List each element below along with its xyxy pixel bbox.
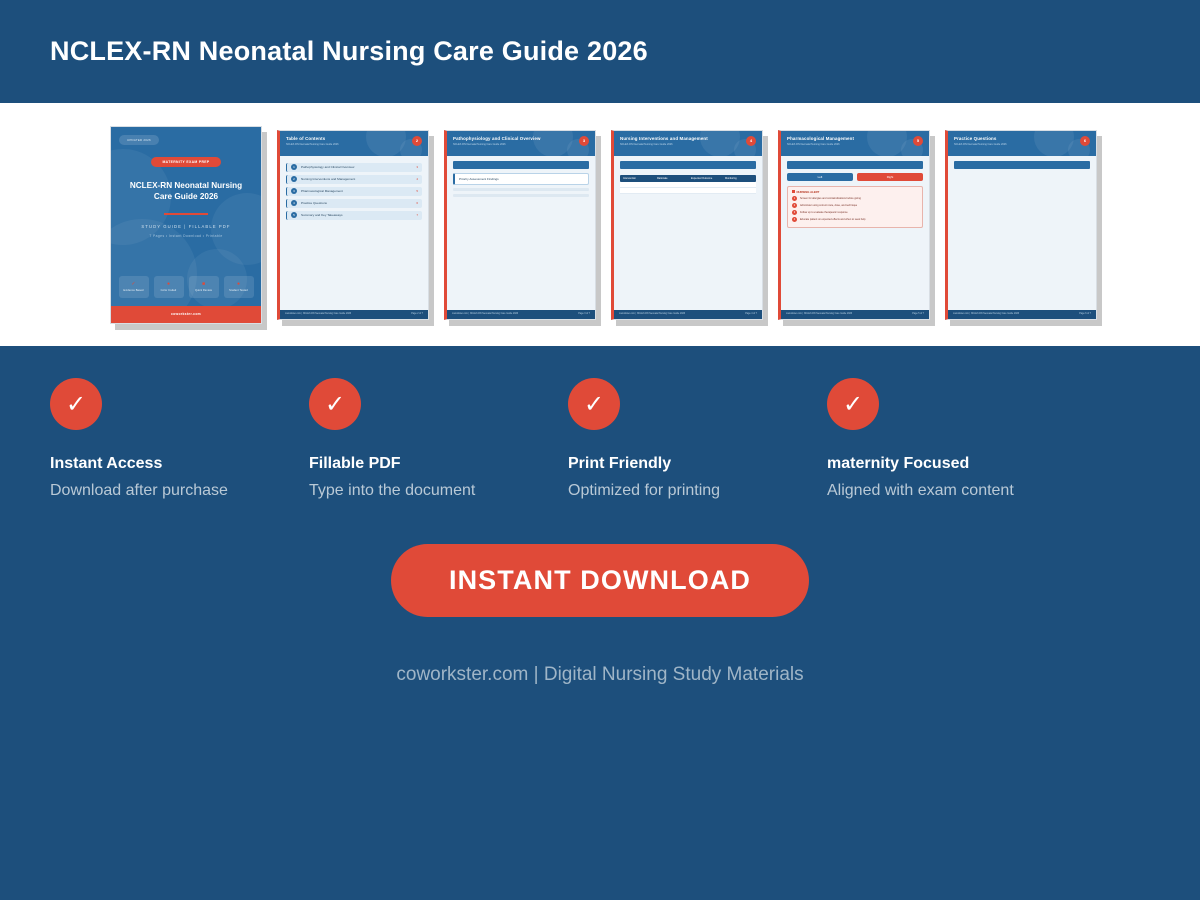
- page-number-badge: 2: [412, 136, 422, 146]
- site-footer: coworkster.com | Digital Nursing Study M…: [0, 664, 1200, 686]
- thumbnail-page-2[interactable]: Table of Contents NCLEX-RN Neonatal Nurs…: [277, 130, 429, 320]
- page-footer-right: Page 3 of 7: [578, 313, 590, 315]
- alert-icon: [792, 190, 795, 193]
- nursing-alert-box: NURSING ALERT 1 Screen for allergies and…: [787, 186, 923, 228]
- page-number-badge: 5: [913, 136, 923, 146]
- toc-number: 2: [291, 176, 297, 182]
- toc-title: Practice Questions: [301, 201, 412, 205]
- cover-body: UPDATED 2026 MATERNITY EXAM PREP NCLEX-R…: [111, 127, 261, 323]
- column-header: Monitoring: [722, 177, 756, 180]
- toc-title: Pathophysiology and Clinical Overview: [301, 165, 412, 169]
- feature-instant-access: ✓ Instant Access Download after purchase: [50, 378, 309, 500]
- page-subheading: NCLEX-RN Neonatal Nursing Care Guide 202…: [787, 143, 929, 146]
- text-line: [453, 194, 589, 197]
- page-header-band: Pharmacological Management NCLEX-RN Neon…: [781, 131, 929, 156]
- cover-feature-label: Student Tested: [229, 289, 248, 292]
- thumbnail-page-3-wrapper[interactable]: Pathophysiology and Clinical Overview NC…: [444, 130, 596, 320]
- feature-title: Print Friendly: [568, 455, 827, 473]
- cta-container: INSTANT DOWNLOAD: [0, 544, 1200, 617]
- alert-item-text: Follow up to evaluate therapeutic respon…: [800, 211, 848, 214]
- toc-page: 5: [416, 189, 418, 193]
- thumbnail-page-5[interactable]: Pharmacological Management NCLEX-RN Neon…: [778, 130, 930, 320]
- page-header: NCLEX-RN Neonatal Nursing Care Guide 202…: [0, 0, 1200, 103]
- text-line: [453, 188, 589, 191]
- page-subheading: NCLEX-RN Neonatal Nursing Care Guide 202…: [286, 143, 428, 146]
- alert-item-text: Educate patient on expected effects and …: [800, 218, 865, 221]
- page-header-band: Table of Contents NCLEX-RN Neonatal Nurs…: [280, 131, 428, 156]
- dot-icon: ●: [167, 282, 170, 287]
- page-footer: coworkster.com | NCLEX-RN Neonatal Nursi…: [614, 310, 762, 319]
- check-icon: ✓: [131, 282, 135, 287]
- page-body: Left Right NURSING ALERT 1 Screen for al…: [781, 156, 929, 310]
- right-button[interactable]: Right: [857, 173, 923, 181]
- feature-title: Fillable PDF: [309, 455, 568, 473]
- feature-title: maternity Focused: [827, 455, 1086, 473]
- page-footer: coworkster.com | NCLEX-RN Neonatal Nursi…: [781, 310, 929, 319]
- alert-title-text: NURSING ALERT: [797, 190, 820, 194]
- alert-list-item: 4 Educate patient on expected effects an…: [792, 217, 918, 222]
- page-footer-right: Page 2 of 7: [411, 313, 423, 315]
- column-header: Rationale: [654, 177, 688, 180]
- thumbnail-page-6-wrapper[interactable]: Practice Questions NCLEX-RN Neonatal Nur…: [945, 130, 1097, 320]
- page-header-band: Nursing Interventions and Management NCL…: [614, 131, 762, 156]
- section-bar: [787, 161, 923, 169]
- thumbnail-cover[interactable]: UPDATED 2026 MATERNITY EXAM PREP NCLEX-R…: [110, 126, 262, 324]
- column-header: Intervention: [620, 177, 654, 180]
- page-number-badge: 6: [1080, 136, 1090, 146]
- table-header-row: Intervention Rationale Expected Outcome …: [620, 175, 756, 182]
- toc-number: 5: [291, 212, 297, 218]
- cover-divider: [164, 213, 208, 215]
- page-footer-left: coworkster.com | NCLEX-RN Neonatal Nursi…: [619, 313, 685, 315]
- check-icon: ✓: [50, 378, 102, 430]
- alert-item-number: 2: [792, 203, 797, 208]
- page-heading: Nursing Interventions and Management: [620, 136, 762, 141]
- page-subheading: NCLEX-RN Neonatal Nursing Care Guide 202…: [620, 143, 762, 146]
- page-heading: Practice Questions: [954, 136, 1096, 141]
- feature-description: Download after purchase: [50, 482, 309, 500]
- cover-feature-label: Color Coded: [161, 289, 177, 292]
- page-body: 1 Pathophysiology and Clinical Overview …: [280, 156, 428, 310]
- alert-item-text: Administer using correct route, dose, an…: [800, 204, 857, 207]
- thumbnail-strip: UPDATED 2026 MATERNITY EXAM PREP NCLEX-R…: [0, 103, 1200, 346]
- section-bar: [453, 161, 589, 169]
- page-footer: coworkster.com | NCLEX-RN Neonatal Nursi…: [948, 310, 1096, 319]
- alert-list-item: 3 Follow up to evaluate therapeutic resp…: [792, 210, 918, 215]
- left-button[interactable]: Left: [787, 173, 853, 181]
- feature-description: Optimized for printing: [568, 482, 827, 500]
- check-icon: ✓: [827, 378, 879, 430]
- cover-feature-row: ✓ Evidence Based ● Color Coded ■ Quick R…: [119, 276, 254, 298]
- cover-feature-item: ● Color Coded: [154, 276, 184, 298]
- section-bar: [954, 161, 1090, 169]
- page-number-badge: 3: [579, 136, 589, 146]
- page-4: Nursing Interventions and Management NCL…: [614, 131, 762, 319]
- list-item[interactable]: 5 Summary and Key Takeaways 7: [286, 211, 422, 220]
- page-footer-right: Page 5 of 7: [912, 313, 924, 315]
- page-subheading: NCLEX-RN Neonatal Nursing Care Guide 202…: [954, 143, 1096, 146]
- section-bar: [620, 161, 756, 169]
- instant-download-button[interactable]: INSTANT DOWNLOAD: [391, 544, 809, 617]
- thumbnail-page-2-wrapper[interactable]: Table of Contents NCLEX-RN Neonatal Nurs…: [277, 130, 429, 320]
- thumbnail-page-6[interactable]: Practice Questions NCLEX-RN Neonatal Nur…: [945, 130, 1097, 320]
- toc-number: 1: [291, 164, 297, 170]
- page-body: Priority Assessment Findings: [447, 156, 595, 310]
- callout-title: Priority Assessment Findings: [459, 177, 584, 181]
- cover-feature-label: Evidence Based: [123, 289, 143, 292]
- list-item[interactable]: 1 Pathophysiology and Clinical Overview …: [286, 163, 422, 172]
- list-item[interactable]: 4 Practice Questions 6: [286, 199, 422, 208]
- page-footer-left: coworkster.com | NCLEX-RN Neonatal Nursi…: [285, 313, 351, 315]
- alert-item-number: 3: [792, 210, 797, 215]
- priority-callout: Priority Assessment Findings: [453, 173, 589, 185]
- toc-page: 6: [416, 201, 418, 205]
- alert-item-number: 4: [792, 217, 797, 222]
- button-row: Left Right: [787, 173, 923, 181]
- page-2: Table of Contents NCLEX-RN Neonatal Nurs…: [280, 131, 428, 319]
- page-heading: Table of Contents: [286, 136, 428, 141]
- thumbnail-page-3[interactable]: Pathophysiology and Clinical Overview NC…: [444, 130, 596, 320]
- page-body: [948, 156, 1096, 310]
- feature-row: ✓ Instant Access Download after purchase…: [0, 346, 1200, 500]
- thumbnail-page-5-wrapper[interactable]: Pharmacological Management NCLEX-RN Neon…: [778, 130, 930, 320]
- toc-number: 4: [291, 200, 297, 206]
- check-icon: ✓: [309, 378, 361, 430]
- page-footer: coworkster.com | NCLEX-RN Neonatal Nursi…: [447, 310, 595, 319]
- feature-description: Type into the document: [309, 482, 568, 500]
- feature-maternity-focused: ✓ maternity Focused Aligned with exam co…: [827, 378, 1086, 500]
- feature-title: Instant Access: [50, 455, 309, 473]
- table-of-contents: 1 Pathophysiology and Clinical Overview …: [286, 163, 422, 220]
- toc-page: 7: [416, 213, 418, 217]
- thumbnail-page-4[interactable]: Nursing Interventions and Management NCL…: [611, 130, 763, 320]
- alert-item-text: Screen for allergies and contraindicatio…: [800, 197, 861, 200]
- list-item[interactable]: 3 Pharmacological Management 5: [286, 187, 422, 196]
- toc-title: Summary and Key Takeaways: [301, 213, 412, 217]
- page-body: Intervention Rationale Expected Outcome …: [614, 156, 762, 310]
- toc-page: 3: [416, 165, 418, 169]
- page-footer-right: Page 4 of 7: [745, 313, 757, 315]
- cover-title: NCLEX-RN Neonatal Nursing Care Guide 202…: [126, 180, 246, 204]
- cover-feature-item: ● Student Tested: [224, 276, 254, 298]
- column-header: Expected Outcome: [688, 177, 722, 180]
- page-footer-right: Page 6 of 7: [1079, 313, 1091, 315]
- page-3: Pathophysiology and Clinical Overview NC…: [447, 131, 595, 319]
- page-6: Practice Questions NCLEX-RN Neonatal Nur…: [948, 131, 1096, 319]
- feature-print-friendly: ✓ Print Friendly Optimized for printing: [568, 378, 827, 500]
- alert-list-item: 1 Screen for allergies and contraindicat…: [792, 196, 918, 201]
- dot-icon: ●: [237, 282, 240, 287]
- toc-page: 4: [416, 177, 418, 181]
- toc-title: Nursing Interventions and Management: [301, 177, 412, 181]
- toc-number: 3: [291, 188, 297, 194]
- cover-meta: 7 Pages • Instant Download • Printable: [149, 234, 222, 238]
- page-5: Pharmacological Management NCLEX-RN Neon…: [781, 131, 929, 319]
- cover-feature-item: ■ Quick Review: [189, 276, 219, 298]
- alert-list-item: 2 Administer using correct route, dose, …: [792, 203, 918, 208]
- cover-feature-label: Quick Review: [195, 289, 212, 292]
- page-footer: coworkster.com | NCLEX-RN Neonatal Nursi…: [280, 310, 428, 319]
- page-subheading: NCLEX-RN Neonatal Nursing Care Guide 202…: [453, 143, 595, 146]
- page-heading: Pharmacological Management: [787, 136, 929, 141]
- page-heading: Pathophysiology and Clinical Overview: [453, 136, 595, 141]
- cover-feature-item: ✓ Evidence Based: [119, 276, 149, 298]
- table-row: [620, 188, 756, 194]
- cover-updated-badge: UPDATED 2026: [119, 135, 159, 145]
- feature-description: Aligned with exam content: [827, 482, 1086, 500]
- page-header-band: Pathophysiology and Clinical Overview NC…: [447, 131, 595, 156]
- cover-subtitle: STUDY GUIDE | FILLABLE PDF: [141, 224, 230, 229]
- page-footer-left: coworkster.com | NCLEX-RN Neonatal Nursi…: [452, 313, 518, 315]
- feature-fillable-pdf: ✓ Fillable PDF Type into the document: [309, 378, 568, 500]
- page-number-badge: 4: [746, 136, 756, 146]
- page-footer-left: coworkster.com | NCLEX-RN Neonatal Nursi…: [786, 313, 852, 315]
- list-item[interactable]: 2 Nursing Interventions and Management 4: [286, 175, 422, 184]
- thumbnail-cover-wrapper[interactable]: UPDATED 2026 MATERNITY EXAM PREP NCLEX-R…: [110, 126, 262, 324]
- thumbnail-page-4-wrapper[interactable]: Nursing Interventions and Management NCL…: [611, 130, 763, 320]
- page-footer-left: coworkster.com | NCLEX-RN Neonatal Nursi…: [953, 313, 1019, 315]
- page-header-band: Practice Questions NCLEX-RN Neonatal Nur…: [948, 131, 1096, 156]
- alert-title: NURSING ALERT: [792, 190, 918, 194]
- cover-footer: coworkster.com: [111, 306, 261, 323]
- alert-item-number: 1: [792, 196, 797, 201]
- page-title: NCLEX-RN Neonatal Nursing Care Guide 202…: [50, 36, 648, 67]
- toc-title: Pharmacological Management: [301, 189, 412, 193]
- check-icon: ✓: [568, 378, 620, 430]
- cover-category-badge: MATERNITY EXAM PREP: [151, 157, 220, 167]
- square-icon: ■: [202, 282, 205, 287]
